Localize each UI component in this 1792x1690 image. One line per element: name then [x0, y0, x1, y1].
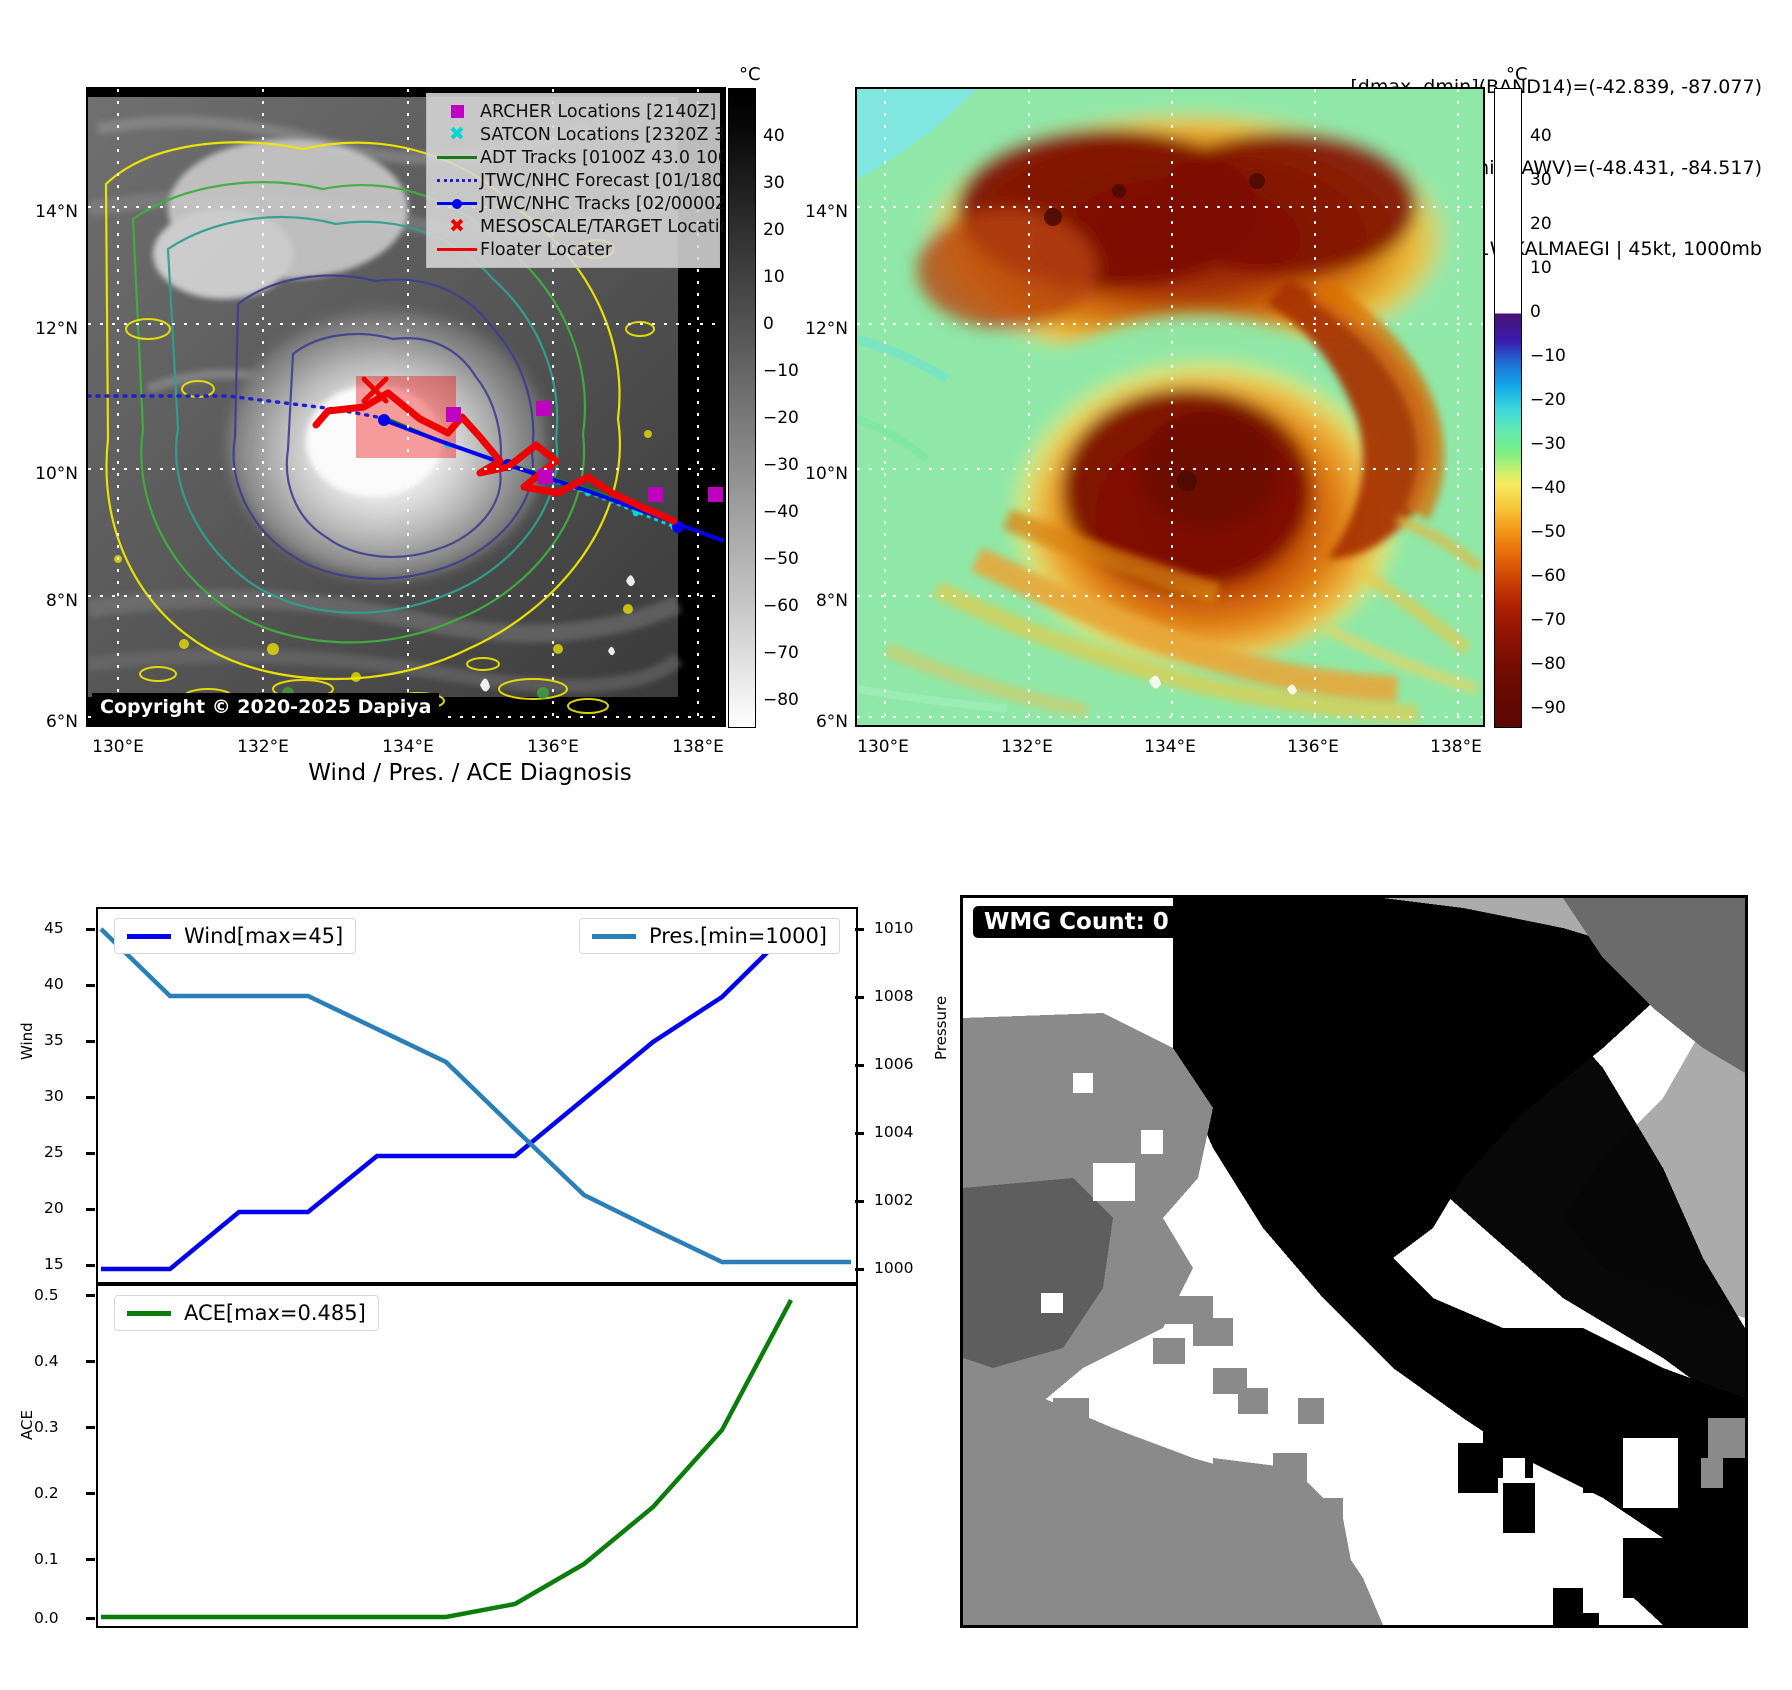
lon-tick-138e: 138°E [648, 737, 748, 757]
wind-tick-40: 40 [44, 975, 64, 993]
ace-tick-00: 0.0 [34, 1609, 59, 1627]
lon-tick-130e-right: 130°E [833, 737, 933, 757]
ace-chart[interactable]: ACE[max=0.485] [96, 1284, 858, 1628]
dashboard-root: HIMAWARI-8 BAND14-DIAS TARGET AREA Time:… [0, 0, 1792, 1690]
lat-tick-12n-right: 12°N [770, 319, 848, 339]
lat-tick-6n-right: 6°N [770, 712, 848, 732]
lon-tick-134e: 134°E [358, 737, 458, 757]
line-green-icon [434, 156, 480, 159]
cb-right-tick-20: 20 [1530, 214, 1552, 234]
cb-left-tick-40: 40 [763, 126, 785, 146]
cb-right-tick-m10: −10 [1530, 346, 1566, 366]
cb-right-tick-m50: −50 [1530, 522, 1566, 542]
wind-axis-title: Wind [18, 1022, 36, 1060]
pres-tick-1008: 1008 [874, 987, 913, 1005]
colorbar-band14 [728, 88, 756, 728]
cb-left-tick-m10: −10 [763, 361, 799, 381]
legend-item-jtwc-tracks: JTWC/NHC Tracks [02/0000Z] [434, 192, 710, 215]
legend-item-floater: Floater Locater [434, 238, 710, 261]
colorbar-unit-right: °C [1506, 64, 1528, 85]
line-dotted-blue-icon [434, 179, 480, 182]
wmg-classification-image [963, 898, 1745, 1625]
wind-legend-label: Wind[max=45] [184, 924, 343, 948]
legend-item-archer: ARCHER Locations [2140Z] [434, 100, 710, 123]
pres-tick-1004: 1004 [874, 1123, 913, 1141]
wind-tick-30: 30 [44, 1087, 64, 1105]
ace-tick-05: 0.5 [34, 1286, 59, 1304]
legend-item-jtwc-forecast: JTWC/NHC Forecast [01/1800Z] [434, 169, 710, 192]
cb-right-tick-40: 40 [1530, 126, 1552, 146]
lat-tick-14n: 14°N [0, 202, 78, 222]
legend-label: ADT Tracks [0100Z 43.0 1003.3] [480, 148, 726, 168]
cb-right-tick-0: 0 [1530, 302, 1541, 322]
cb-left-tick-20: 20 [763, 220, 785, 240]
legend-label: MESOSCALE/TARGET Location [480, 217, 726, 237]
legend-label: SATCON Locations [2320Z 39 1003] [480, 125, 726, 145]
wind-pressure-chart[interactable]: Wind[max=45] Pres.[min=1000] [96, 907, 858, 1284]
pres-tick-1006: 1006 [874, 1055, 913, 1073]
pressure-legend-swatch [592, 934, 636, 939]
wind-pressure-plot [98, 909, 855, 1281]
lat-tick-10n: 10°N [0, 464, 78, 484]
cb-right-tick-10: 10 [1530, 258, 1552, 278]
cb-left-tick-m40: −40 [763, 502, 799, 522]
ace-legend-swatch [127, 1311, 171, 1316]
cb-right-tick-m90: −90 [1530, 698, 1566, 718]
legend-label: Floater Locater [480, 240, 612, 260]
line-blue-dot-icon [434, 202, 480, 205]
wind-legend[interactable]: Wind[max=45] [114, 918, 356, 954]
pressure-axis-title: Pressure [932, 996, 950, 1060]
cb-right-tick-m70: −70 [1530, 610, 1566, 630]
legend-label: JTWC/NHC Forecast [01/1800Z] [480, 171, 726, 191]
wind-tick-45: 45 [44, 919, 64, 937]
lon-tick-136e-right: 136°E [1263, 737, 1363, 757]
pressure-legend[interactable]: Pres.[min=1000] [579, 918, 840, 954]
x-red-icon: ✖ [434, 217, 480, 236]
cb-left-tick-m50: −50 [763, 549, 799, 569]
ace-tick-02: 0.2 [34, 1484, 59, 1502]
legend-item-adt: ADT Tracks [0100Z 43.0 1003.3] [434, 146, 710, 169]
ace-tick-04: 0.4 [34, 1352, 59, 1370]
pres-tick-1010: 1010 [874, 919, 913, 937]
pres-tick-1002: 1002 [874, 1191, 913, 1209]
wind-tick-20: 20 [44, 1199, 64, 1217]
wind-tick-15: 15 [44, 1255, 64, 1273]
cb-right-tick-30: 30 [1530, 170, 1552, 190]
lon-tick-130e: 130°E [68, 737, 168, 757]
pressure-legend-label: Pres.[min=1000] [649, 924, 827, 948]
legend-item-mesoscale: ✖ MESOSCALE/TARGET Location [434, 215, 710, 238]
ace-tick-01: 0.1 [34, 1550, 59, 1568]
wmg-count-badge: WMG Count: 0 [973, 906, 1180, 938]
lat-tick-6n: 6°N [0, 712, 78, 732]
colorbar-awv [1494, 88, 1522, 728]
legend-label: ARCHER Locations [2140Z] [480, 102, 716, 122]
wmg-classification-panel[interactable]: WMG Count: 0 [960, 895, 1748, 1628]
wind-series-line [101, 929, 791, 1269]
pres-tick-1000: 1000 [874, 1259, 913, 1277]
cb-left-tick-m20: −20 [763, 408, 799, 428]
cb-right-tick-m20: −20 [1530, 390, 1566, 410]
lat-tick-8n: 8°N [0, 591, 78, 611]
awv-target-area-map[interactable] [855, 87, 1485, 727]
lon-tick-134e-right: 134°E [1120, 737, 1220, 757]
band14-target-area-map[interactable]: ARCHER Locations [2140Z] ✖ SATCON Locati… [86, 87, 726, 727]
cb-left-tick-30: 30 [763, 173, 785, 193]
ace-tick-03: 0.3 [34, 1418, 59, 1436]
lon-tick-136e: 136°E [503, 737, 603, 757]
copyright-notice: Copyright © 2020-2025 Dapiya [92, 693, 439, 721]
wind-legend-swatch [127, 934, 171, 939]
diagnosis-panel-title: Wind / Pres. / ACE Diagnosis [150, 760, 790, 786]
lon-tick-138e-right: 138°E [1406, 737, 1506, 757]
lon-tick-132e: 132°E [213, 737, 313, 757]
ace-legend-label: ACE[max=0.485] [184, 1301, 366, 1325]
ace-plot [98, 1286, 855, 1625]
lat-tick-12n: 12°N [0, 319, 78, 339]
legend-item-satcon: ✖ SATCON Locations [2320Z 39 1003] [434, 123, 710, 146]
ace-legend[interactable]: ACE[max=0.485] [114, 1295, 379, 1331]
line-red-icon [434, 248, 480, 251]
square-magenta-icon [434, 105, 480, 118]
lat-tick-10n-right: 10°N [770, 464, 848, 484]
x-cyan-icon: ✖ [434, 125, 480, 144]
lat-tick-8n-right: 8°N [770, 591, 848, 611]
wind-tick-25: 25 [44, 1143, 64, 1161]
cb-left-tick-m80: −80 [763, 690, 799, 710]
map-legend: ARCHER Locations [2140Z] ✖ SATCON Locati… [426, 93, 720, 268]
cb-left-tick-10: 10 [763, 267, 785, 287]
cb-right-tick-m40: −40 [1530, 478, 1566, 498]
ace-series-line [101, 1300, 791, 1617]
cb-left-tick-m70: −70 [763, 643, 799, 663]
lat-tick-14n-right: 14°N [770, 202, 848, 222]
legend-label: JTWC/NHC Tracks [02/0000Z] [480, 194, 726, 214]
awv-imagery [857, 89, 1483, 725]
colorbar-unit-left: °C [739, 64, 761, 85]
cb-right-tick-m60: −60 [1530, 566, 1566, 586]
cb-right-tick-m80: −80 [1530, 654, 1566, 674]
cb-right-tick-m30: −30 [1530, 434, 1566, 454]
wind-tick-35: 35 [44, 1031, 64, 1049]
lon-tick-132e-right: 132°E [977, 737, 1077, 757]
